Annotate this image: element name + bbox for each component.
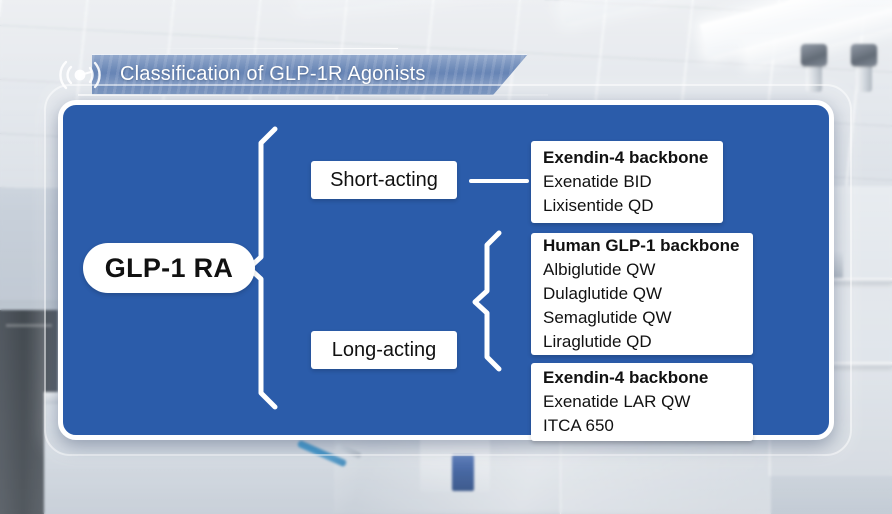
node-glp1-ra-label: GLP-1 RA (105, 253, 233, 284)
node-short-acting[interactable]: Short-acting (311, 161, 457, 199)
list-item: Semaglutide QW (543, 306, 672, 330)
hanging-fixture-head (851, 44, 877, 66)
list-item: ITCA 650 (543, 414, 614, 438)
list-heading: Exendin-4 backbone (543, 146, 708, 170)
list-item: Exenatide LAR QW (543, 390, 690, 414)
list-item: Exenatide BID (543, 170, 652, 194)
slide-canvas: Classification of GLP-1R Agonists GLP-1 … (0, 0, 892, 514)
list-heading: Exendin-4 backbone (543, 366, 708, 390)
hanging-fixture-head (801, 44, 827, 66)
connector-short-acting (469, 179, 529, 183)
node-glp1-ra[interactable]: GLP-1 RA (83, 243, 255, 293)
node-list-human-glp1[interactable]: Human GLP-1 backbone Albiglutide QW Dula… (531, 233, 753, 355)
list-heading: Human GLP-1 backbone (543, 234, 739, 258)
list-item: Lixisentide QD (543, 194, 654, 218)
node-long-acting[interactable]: Long-acting (311, 331, 457, 369)
list-item: Albiglutide QW (543, 258, 655, 282)
list-item: Dulaglutide QW (543, 282, 662, 306)
sample-box (452, 455, 474, 491)
brace-long-acting (475, 233, 499, 369)
node-list-exendin4-long[interactable]: Exendin-4 backbone Exenatide LAR QW ITCA… (531, 363, 753, 441)
node-short-acting-label: Short-acting (330, 169, 438, 192)
list-item: Liraglutide QD (543, 330, 652, 354)
node-long-acting-label: Long-acting (332, 339, 437, 362)
node-list-exendin4-short[interactable]: Exendin-4 backbone Exenatide BID Lixisen… (531, 141, 723, 223)
diagram-panel: GLP-1 RA Short-acting Long-acting Exendi… (58, 100, 834, 440)
title-top-rule (148, 48, 398, 49)
